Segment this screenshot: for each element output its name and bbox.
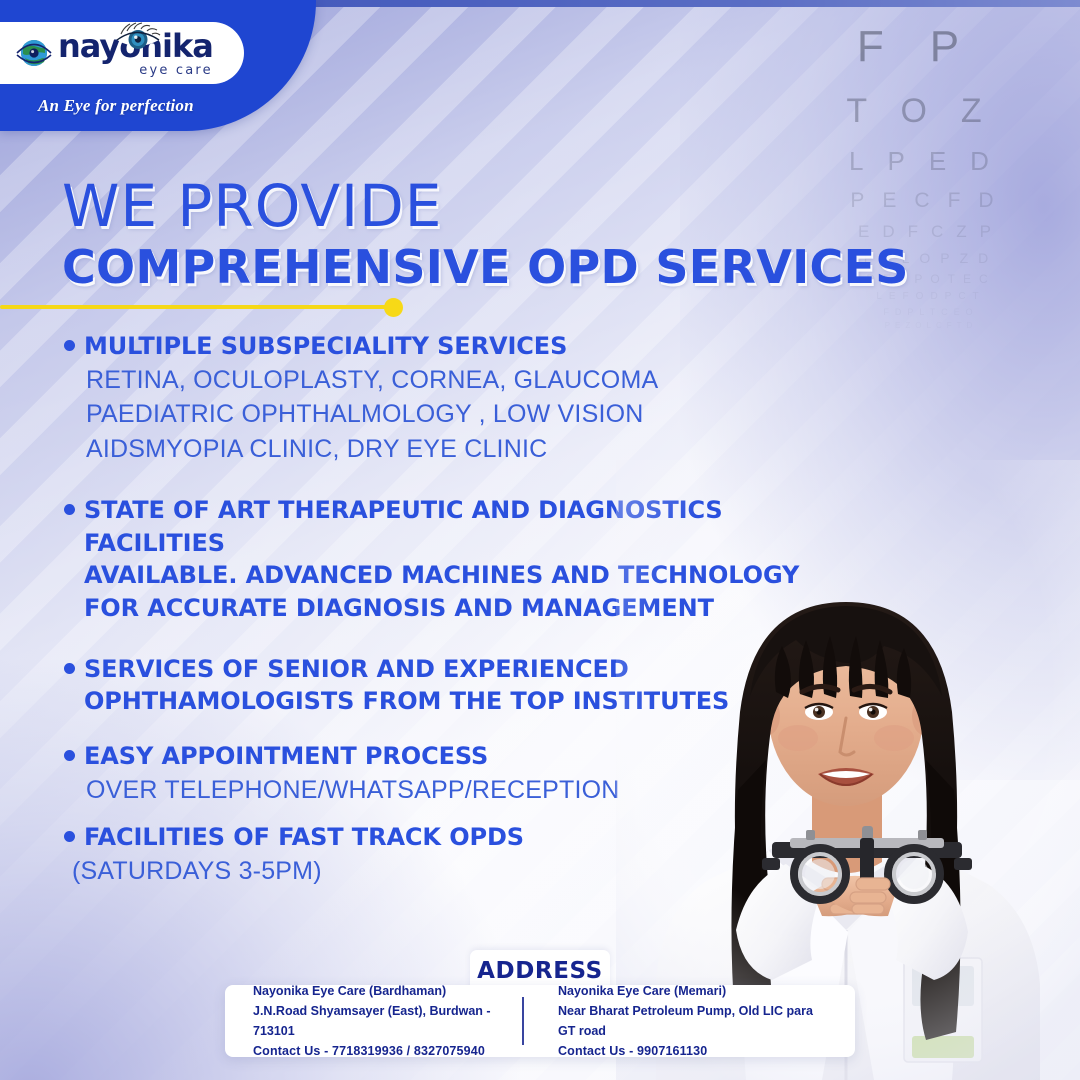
service-detail: RETINA, OCULOPLASTY, CORNEA, GLAUCOMA [64, 363, 864, 398]
brand-banner: nayonika eye care An Eye for pe [0, 0, 316, 131]
service-heading-line: FACILITIES OF FAST TRACK OPDS [64, 821, 864, 854]
bullet-dot-icon [64, 504, 75, 515]
spacer [64, 811, 864, 821]
spacer [64, 722, 864, 740]
service-block: EASY APPOINTMENT PROCESSOVER TELEPHONE/W… [64, 740, 864, 807]
eye-chart-row: FDPLTCEO [822, 307, 1040, 317]
address-divider [522, 997, 524, 1045]
service-heading: MULTIPLE SUBSPECIALITY SERVICES [84, 330, 567, 363]
branch-street: Near Bharat Petroleum Pump, Old LIC para… [558, 1001, 827, 1042]
bullet-dot-icon [64, 663, 75, 674]
logo-word: nayonika [58, 30, 213, 62]
globe-eye-logo-icon [14, 33, 54, 73]
service-heading: EASY APPOINTMENT PROCESS [84, 740, 488, 773]
eye-chart-row: FP [822, 22, 1040, 72]
eye-chart-row: EDFCZP [822, 222, 1040, 242]
logo-wordmark: nayonika eye care [58, 30, 213, 77]
brand-tagline: An Eye for perfection [38, 96, 194, 116]
spacer [64, 470, 864, 494]
eye-chart-row: PEZOLCFTD [822, 321, 1040, 330]
service-heading-continuation: AVAILABLE. ADVANCED MACHINES AND TECHNOL… [64, 559, 864, 592]
bullet-dot-icon [64, 340, 75, 351]
service-heading-continuation: FOR ACCURATE DIAGNOSIS AND MANAGEMENT [64, 592, 864, 625]
service-block: STATE OF ART THERAPEUTIC AND DIAGNOSTICS… [64, 494, 864, 625]
bullet-dot-icon [64, 831, 75, 842]
service-heading-line: SERVICES OF SENIOR AND EXPERIENCED [64, 653, 864, 686]
address-branch-memari: Nayonika Eye Care (Memari) Near Bharat P… [524, 981, 827, 1062]
branch-contact[interactable]: Contact Us - 9907161130 [558, 1041, 827, 1061]
eye-chart-row: LPED [822, 146, 1040, 177]
branch-street: J.N.Road Shyamsayer (East), Burdwan - 71… [253, 1001, 522, 1042]
headline-line-1: WE PROVIDE [62, 172, 442, 240]
branch-name: Nayonika Eye Care (Bardhaman) [253, 981, 522, 1001]
service-heading: STATE OF ART THERAPEUTIC AND DIAGNOSTICS… [84, 494, 864, 559]
branch-name: Nayonika Eye Care (Memari) [558, 981, 827, 1001]
services-list: MULTIPLE SUBSPECIALITY SERVICESRETINA, O… [64, 330, 864, 892]
service-heading-line: EASY APPOINTMENT PROCESS [64, 740, 864, 773]
service-detail: (SATURDAYS 3-5PM) [64, 854, 864, 889]
branch-contact[interactable]: Contact Us - 7718319936 / 8327075940 [253, 1041, 522, 1061]
service-heading: SERVICES OF SENIOR AND EXPERIENCED [84, 653, 629, 686]
eye-chart-row: TOZ [822, 92, 1040, 131]
logo-plate: nayonika eye care [0, 22, 244, 84]
service-detail: OVER TELEPHONE/WHATSAPP/RECEPTION [64, 773, 864, 808]
address-card: Nayonika Eye Care (Bardhaman) J.N.Road S… [225, 985, 855, 1057]
service-heading: FACILITIES OF FAST TRACK OPDS [84, 821, 524, 854]
service-heading-continuation: OPHTHAMOLOGISTS FROM THE TOP INSTITUTES [64, 685, 864, 718]
accent-rule-dot [384, 298, 403, 317]
service-heading-line: STATE OF ART THERAPEUTIC AND DIAGNOSTICS… [64, 494, 864, 559]
service-detail: AIDSMYOPIA CLINIC, DRY EYE CLINIC [64, 432, 864, 467]
service-heading-line: MULTIPLE SUBSPECIALITY SERVICES [64, 330, 864, 363]
headline-line-2: COMPREHENSIVE OPD SERVICES [62, 240, 909, 294]
spacer [64, 629, 864, 653]
service-block: MULTIPLE SUBSPECIALITY SERVICESRETINA, O… [64, 330, 864, 466]
poster-canvas: FPTOZLPEDPECFDEDFCZPFELOPZDDEFPOTECLEFOD… [0, 0, 1080, 1080]
address-branch-bardhaman: Nayonika Eye Care (Bardhaman) J.N.Road S… [253, 981, 522, 1062]
eye-chart-row: PECFD [822, 189, 1040, 213]
service-block: FACILITIES OF FAST TRACK OPDS(SATURDAYS … [64, 821, 864, 888]
bullet-dot-icon [64, 750, 75, 761]
logo-subtitle: eye care [58, 64, 213, 77]
accent-rule [0, 305, 396, 309]
service-block: SERVICES OF SENIOR AND EXPERIENCEDOPHTHA… [64, 653, 864, 718]
service-detail: PAEDIATRIC OPHTHALMOLOGY , LOW VISION [64, 397, 864, 432]
